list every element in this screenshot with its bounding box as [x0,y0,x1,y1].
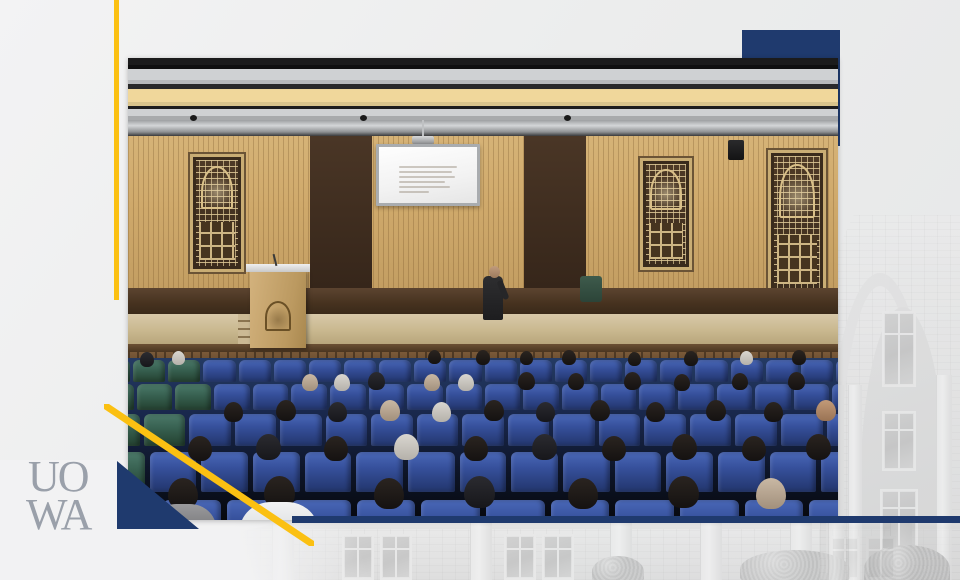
ceiling-spotlight-icon [564,115,571,121]
audience-head [806,434,831,460]
building-pillar [936,375,952,580]
wooden-podium [250,270,306,348]
audience-head [740,351,753,365]
audience-head [140,352,154,367]
audience-head [520,351,533,365]
audience-head [368,372,385,390]
panel-medallion-icon [779,164,814,218]
audience-head [624,372,641,390]
projection-screen [379,147,477,203]
panel-lattice-icon [199,222,236,260]
carved-wall-panel-right [768,150,826,298]
stage-side-chair [580,276,602,302]
audience-head [674,374,690,391]
audience-head [432,402,451,422]
panel-lattice-icon [777,235,817,283]
audience-head [756,478,786,509]
yellow-vertical-rule-icon [114,0,119,300]
building-window [882,311,916,387]
projector-mount-rod [422,120,424,137]
navy-horizontal-bar [292,516,960,523]
audience-head [788,372,805,390]
uowa-logo: UO WA [28,458,90,534]
audience-head [464,436,488,461]
audience-head [458,374,474,391]
building-window [504,534,536,580]
building-pillar [848,385,862,580]
audience-head [328,402,347,422]
building-pillar [470,520,492,580]
audience-head [742,436,766,461]
building-shrub [592,556,644,580]
audience-head [732,373,748,390]
audience-head [380,400,400,421]
panel-medallion-icon [201,166,234,209]
audience-head [764,402,783,422]
audience-head [532,434,557,460]
panel-lattice-icon [649,223,684,259]
audience-head [334,374,350,391]
audience-head [518,372,535,390]
audience-head [172,351,185,365]
audience-head [256,434,281,460]
building-pillar [120,520,142,580]
background-building-bottom [0,520,960,580]
audience-head [590,400,610,421]
poster-canvas: UO WA [0,0,960,580]
ceiling-spotlight-icon [190,115,197,121]
audience-head [188,436,212,461]
projection-screen-frame [376,144,480,206]
podium-emblem-icon [265,301,291,331]
audience-head [324,436,348,461]
audience-head [568,478,598,509]
auditorium-photo [128,58,838,520]
audience-head [424,374,440,391]
building-pillar [700,520,722,580]
wall-dark-column [524,136,586,288]
carved-wall-panel-left [190,154,244,272]
presenter-head [489,266,500,278]
audience-head [276,400,296,421]
audience-head [476,350,490,365]
building-window [196,546,230,580]
audience-head [302,374,318,391]
audience-head [464,476,495,508]
audience-head [628,352,641,366]
ceiling-lower-beam [128,120,838,136]
audience-head [484,400,504,421]
audience-head [646,402,665,422]
wall-dark-column [310,136,372,288]
logo-line-2: WA [26,496,90,534]
building-window [152,546,186,580]
ceiling-projector-icon [412,136,434,144]
panel-medallion-icon [650,169,681,209]
audience-head [602,436,626,461]
audience-head [224,402,243,422]
audience-head [562,350,576,365]
audience-head [672,434,697,460]
audience-head [684,351,698,366]
building-window [342,534,374,580]
audience-head [374,478,404,509]
ceiling-beams [128,58,838,120]
background-building-right [820,215,960,580]
building-window [542,534,574,580]
audience-head [568,373,584,390]
wall-loudspeaker-icon [728,140,744,160]
audience-head [816,400,836,421]
podium-papers [246,264,310,272]
building-window [882,411,916,471]
audience-head [706,400,726,421]
audience-head [668,476,699,508]
slide-text-lines [399,166,457,196]
audience-head [536,402,555,422]
ceiling-spotlight-icon [360,115,367,121]
carved-wall-panel-center-right [640,158,692,270]
audience-head [394,434,419,460]
building-window [380,534,412,580]
audience-head [428,350,441,364]
audience-head [792,350,806,365]
